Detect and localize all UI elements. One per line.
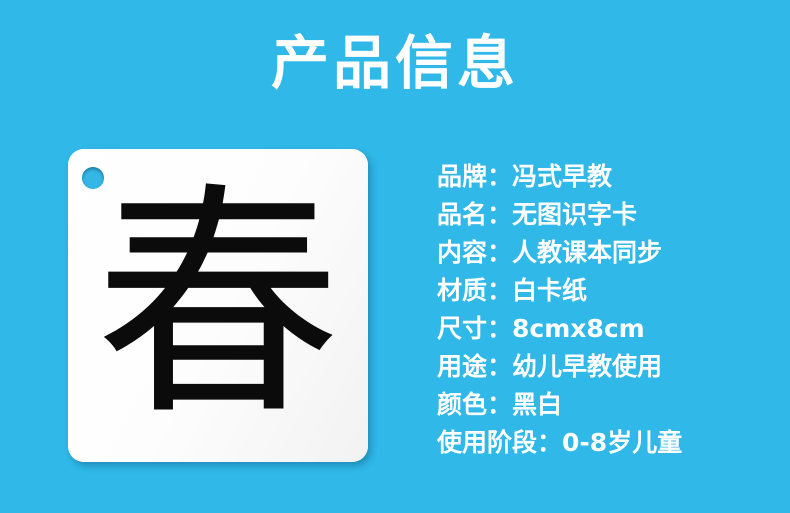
info-separator: ：: [487, 162, 512, 191]
info-row: 品名：无图识字卡: [437, 196, 767, 234]
info-label: 内容: [437, 238, 487, 267]
info-value: 冯式早教: [512, 162, 612, 191]
info-value: 无图识字卡: [512, 200, 637, 229]
info-label: 品牌: [437, 162, 487, 191]
info-label: 使用阶段: [437, 428, 537, 457]
info-label: 用途: [437, 352, 487, 381]
info-label: 尺寸: [437, 314, 487, 343]
info-row: 颜色：黑白: [437, 386, 767, 424]
info-separator: ：: [487, 200, 512, 229]
punch-hole-icon: [82, 167, 104, 189]
info-value: 人教课本同步: [512, 238, 662, 267]
info-value: 0-8岁儿童: [562, 428, 682, 457]
flashcard: 春: [68, 149, 368, 462]
info-separator: ：: [487, 238, 512, 267]
info-label: 材质: [437, 276, 487, 305]
info-row: 材质：白卡纸: [437, 272, 767, 310]
info-row: 用途：幼儿早教使用: [437, 348, 767, 386]
product-card-image: 春: [68, 149, 368, 462]
info-row: 尺寸：8cmx8cm: [437, 310, 767, 348]
info-row: 品牌：冯式早教: [437, 158, 767, 196]
info-label: 品名: [437, 200, 487, 229]
info-label: 颜色: [437, 390, 487, 419]
info-separator: ：: [487, 314, 512, 343]
info-value: 白卡纸: [512, 276, 587, 305]
product-info-banner: 产品信息 春 品牌：冯式早教品名：无图识字卡内容：人教课本同步材质：白卡纸尺寸：…: [0, 0, 790, 513]
info-row: 使用阶段：0-8岁儿童: [437, 424, 767, 462]
info-value: 黑白: [512, 390, 562, 419]
info-separator: ：: [537, 428, 562, 457]
info-separator: ：: [487, 390, 512, 419]
flashcard-character: 春: [68, 149, 368, 462]
info-value: 幼儿早教使用: [512, 352, 662, 381]
info-row: 内容：人教课本同步: [437, 234, 767, 272]
info-separator: ：: [487, 276, 512, 305]
page-title: 产品信息: [0, 28, 790, 98]
info-separator: ：: [487, 352, 512, 381]
info-value: 8cmx8cm: [512, 314, 645, 343]
product-info-list: 品牌：冯式早教品名：无图识字卡内容：人教课本同步材质：白卡纸尺寸：8cmx8cm…: [437, 158, 767, 462]
